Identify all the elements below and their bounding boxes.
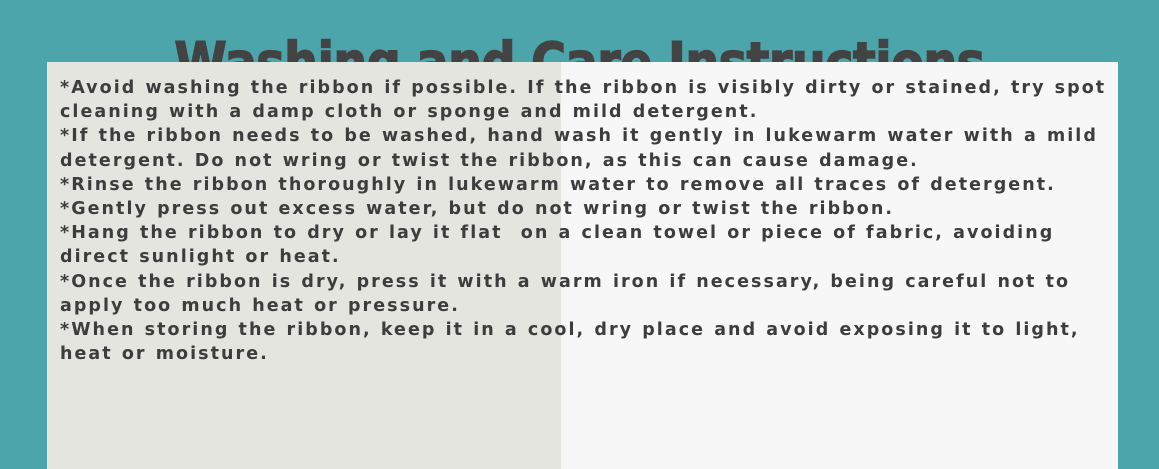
instructions-text: *Avoid washing the ribbon if possible. I…: [60, 76, 1110, 366]
instructions-card: *Avoid washing the ribbon if possible. I…: [47, 62, 1118, 469]
care-instructions-poster: Washing and Care Instructions *Avoid was…: [0, 0, 1159, 469]
